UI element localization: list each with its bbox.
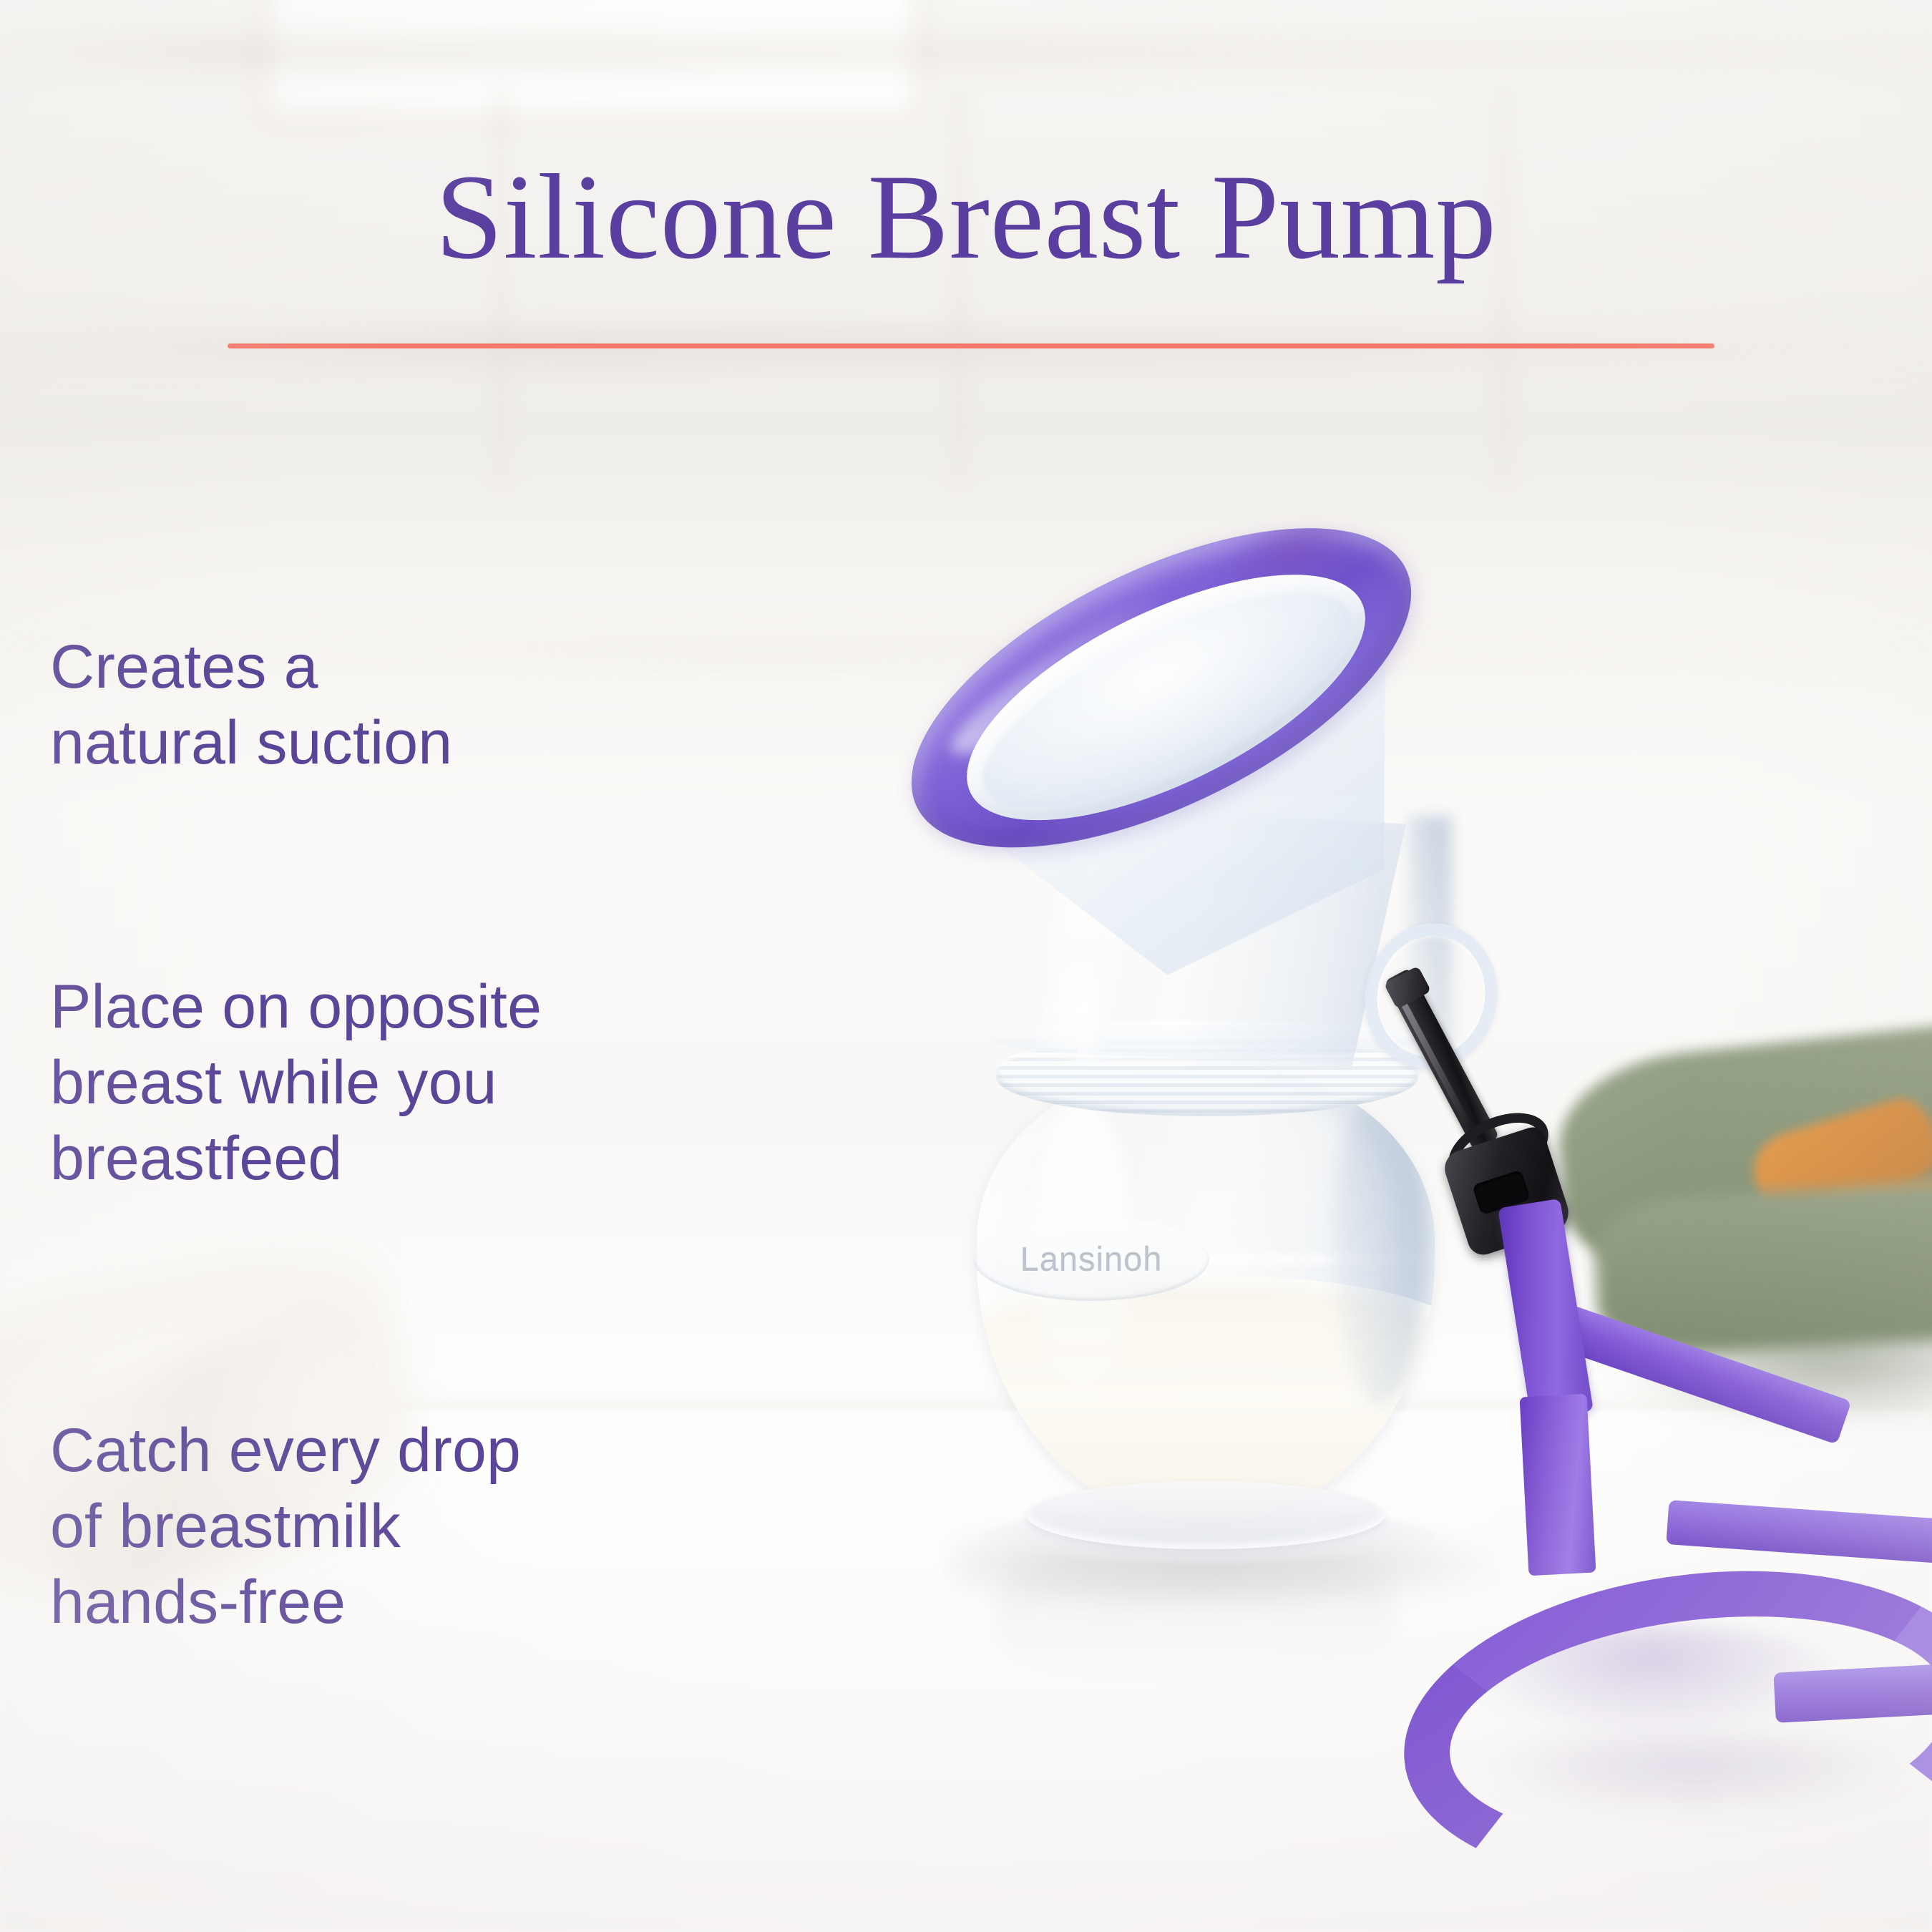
background-window — [258, 0, 927, 126]
bottle-edge-shade — [1334, 1085, 1425, 1405]
background-tile-line-2 — [952, 86, 967, 487]
background-tile-line-3 — [1496, 86, 1511, 487]
background-seam-upper — [0, 43, 1932, 62]
brand-name: Lansinoh — [1020, 1239, 1163, 1279]
feature-natural-suction: Creates a natural suction — [50, 630, 452, 781]
pump-base-foot — [1027, 1481, 1385, 1549]
strap-lower-run — [1520, 1394, 1596, 1576]
page-title: Silicone Breast Pump — [0, 156, 1932, 278]
product-reflection — [995, 1546, 1395, 1689]
feature-hands-free: Catch every drop of breastmilk hands-fre… — [50, 1413, 521, 1640]
product-photo: Lansinoh — [844, 501, 1660, 1717]
strap-upper-run — [1498, 1199, 1594, 1420]
product-marketing-image: Lansinoh — [0, 0, 1932, 1932]
brand-emboss-oval: Lansinoh — [973, 1216, 1209, 1301]
feature-opposite-breast: Place on opposite breast while you breas… — [50, 970, 542, 1196]
title-divider — [228, 343, 1714, 348]
background-tile-line-1 — [494, 86, 509, 487]
